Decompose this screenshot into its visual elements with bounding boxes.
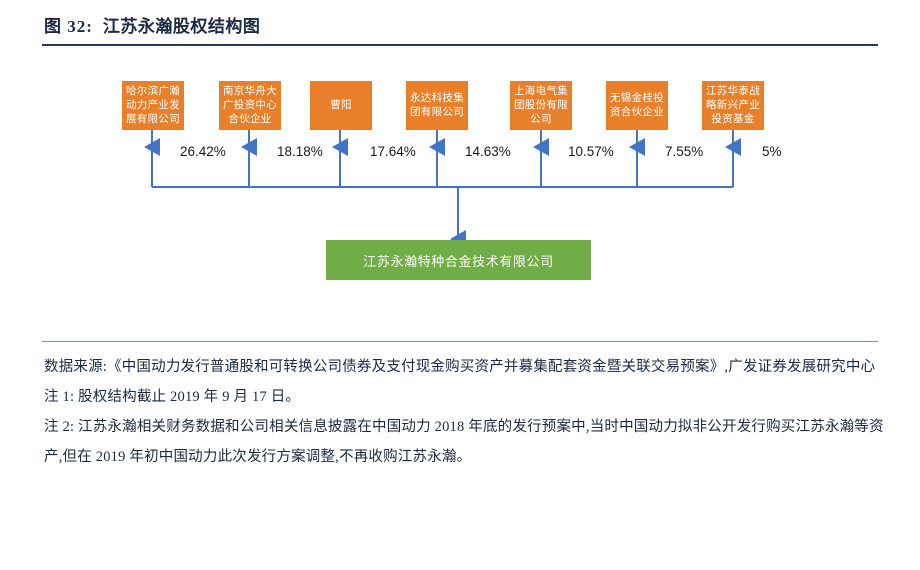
target-company-name: 江苏永瀚特种合金技术有限公司 [363, 251, 553, 270]
shareholder-box[interactable]: 永达科技集团有限公司 [406, 81, 468, 130]
figure-number: 图 32: [44, 12, 93, 37]
shareholder-box[interactable]: 哈尔滨广瀚动力产业发展有限公司 [122, 81, 184, 130]
shareholder-name: 上海电气集团股份有限公司 [513, 85, 569, 127]
title-divider [42, 44, 878, 46]
shareholder-box[interactable]: 无锡金桂投资合伙企业 [606, 81, 668, 130]
shareholder-box[interactable]: 曹阳 [310, 81, 372, 130]
ownership-percent-label: 18.18% [277, 144, 323, 159]
shareholder-name: 无锡金桂投资合伙企业 [609, 92, 665, 120]
shareholder-name: 永达科技集团有限公司 [409, 92, 465, 120]
ownership-percent-label: 10.57% [568, 144, 614, 159]
shareholder-box[interactable]: 江苏华泰战略新兴产业投资基金 [702, 81, 764, 130]
target-company-box[interactable]: 江苏永瀚特种合金技术有限公司 [326, 240, 591, 280]
ownership-structure-diagram: 哈尔滨广瀚动力产业发展有限公司 南京华舟大广投资中心合伙企业 曹阳 永达科技集团… [0, 52, 920, 332]
shareholder-box[interactable]: 上海电气集团股份有限公司 [510, 81, 572, 130]
figure-title-block: 图 32: 江苏永瀚股权结构图 [42, 12, 878, 46]
note-1: 注 1: 股权结构截止 2019 年 9 月 17 日。 [44, 382, 884, 412]
ownership-percent-label: 5% [762, 144, 782, 159]
ownership-percent-label: 26.42% [180, 144, 226, 159]
shareholder-name: 南京华舟大广投资中心合伙企业 [222, 85, 278, 127]
shareholder-name: 哈尔滨广瀚动力产业发展有限公司 [125, 85, 181, 127]
ownership-percent-label: 14.63% [465, 144, 511, 159]
shareholder-name: 曹阳 [313, 99, 369, 113]
ownership-percent-label: 17.64% [370, 144, 416, 159]
page-title: 江苏永瀚股权结构图 [103, 12, 261, 37]
shareholder-name: 江苏华泰战略新兴产业投资基金 [705, 85, 761, 127]
footnote-divider [42, 341, 878, 342]
note-2: 注 2: 江苏永瀚相关财务数据和公司相关信息披露在中国动力 2018 年底的发行… [44, 412, 884, 472]
shareholder-box[interactable]: 南京华舟大广投资中心合伙企业 [219, 81, 281, 130]
title-row: 图 32: 江苏永瀚股权结构图 [42, 12, 878, 37]
footnote-block: 数据来源:《中国动力发行普通股和可转换公司债券及支付现金购买资产并募集配套资金暨… [44, 352, 884, 472]
ownership-percent-label: 7.55% [665, 144, 703, 159]
data-source-note: 数据来源:《中国动力发行普通股和可转换公司债券及支付现金购买资产并募集配套资金暨… [44, 352, 884, 382]
